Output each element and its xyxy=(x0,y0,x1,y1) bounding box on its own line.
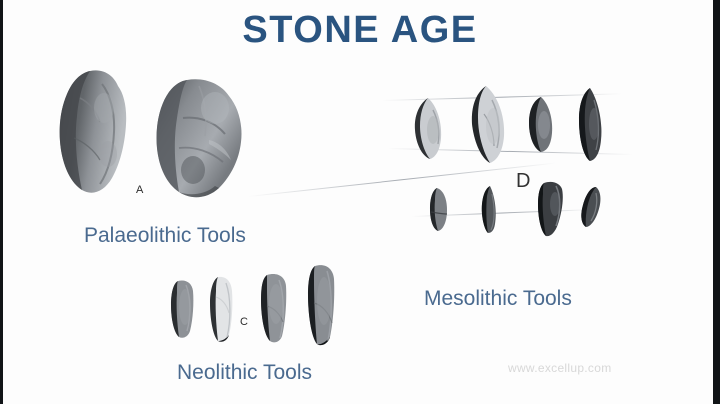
group-label-neolithic: Neolithic Tools xyxy=(177,361,312,385)
group-label-mesolithic: Mesolithic Tools xyxy=(424,287,572,311)
mesolithic-microlith-5 xyxy=(428,186,450,232)
neolithic-celt-4 xyxy=(303,263,337,347)
mesolithic-microlith-1 xyxy=(413,96,445,160)
watermark: www.excellup.com xyxy=(508,361,612,375)
right-border xyxy=(713,0,720,404)
mesolithic-microlith-7 xyxy=(536,180,566,238)
mesolithic-microlith-6 xyxy=(478,184,500,234)
figure-letter-a: A xyxy=(136,184,143,196)
neolithic-celt-1 xyxy=(168,279,198,339)
figure-letter-d: D xyxy=(516,170,530,193)
neolithic-celt-3 xyxy=(257,272,289,344)
palaeolithic-handaxe-2 xyxy=(153,78,245,200)
palaeolithic-handaxe-1 xyxy=(58,68,142,196)
scan-guide-line xyxy=(248,163,556,197)
figure-letter-c: C xyxy=(240,316,248,328)
page-title: STONE AGE xyxy=(0,9,720,52)
mesolithic-microlith-2 xyxy=(470,84,508,164)
neolithic-celt-2 xyxy=(206,275,236,343)
stone-age-diagram: STONE AGE xyxy=(0,0,720,404)
mesolithic-microlith-4 xyxy=(576,86,606,162)
group-label-palaeolithic: Palaeolithic Tools xyxy=(84,224,246,248)
left-border xyxy=(0,0,3,404)
mesolithic-microlith-3 xyxy=(527,95,555,153)
mesolithic-microlith-8 xyxy=(578,185,604,229)
